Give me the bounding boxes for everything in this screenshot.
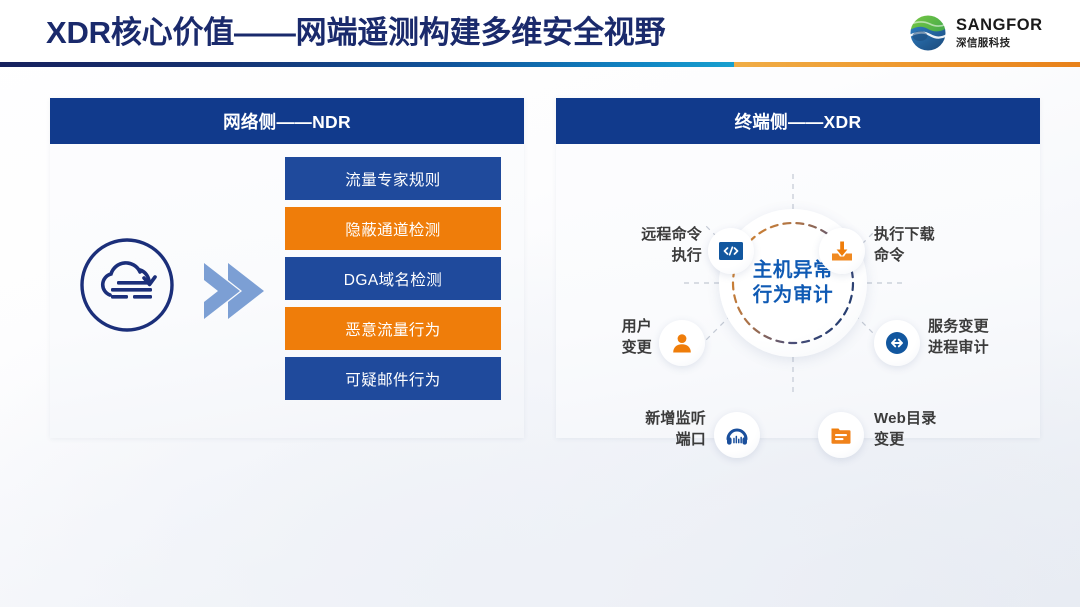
node-label-remote-command-execution: 远程命令 执行 [580,224,702,266]
node-label-line2: 命令 [874,245,1014,266]
node-label-line2: 进程审计 [928,337,1038,358]
ndr-item-label: 可疑邮件行为 [345,368,440,390]
logo-brand-name: SANGFOR [956,16,1056,35]
node-label-service-change-process-audit: 服务变更 进程审计 [928,316,1038,358]
node-label-line2: 变更 [874,429,1004,450]
exchange-arrows-icon[interactable] [874,320,920,366]
chevron-right-arrow-icon [200,262,272,320]
header-accent-rule [0,62,1080,67]
ndr-item-covert-channel-detection[interactable]: 隐蔽通道检测 [285,207,501,250]
slide-header: XDR核心价值——网端遥测构建多维安全视野 [0,0,1080,62]
panel-ndr-title: 网络侧——NDR [223,109,351,134]
panel-network-side-ndr: 网络侧——NDR [50,98,524,438]
user-person-icon[interactable] [659,320,705,366]
ndr-item-dga-domain-detection[interactable]: DGA域名检测 [285,257,501,300]
headphones-icon[interactable] [714,412,760,458]
node-label-line2: 变更 [566,337,652,358]
node-label-line1: 执行下载 [874,224,1014,245]
sangfor-globe-icon [908,13,948,53]
node-label-line2: 执行 [580,245,702,266]
ndr-item-traffic-expert-rules[interactable]: 流量专家规则 [285,157,501,200]
node-label-line1: Web目录 [874,408,1004,429]
folder-document-icon[interactable] [818,412,864,458]
panel-endpoint-side-xdr: 终端侧——XDR [556,98,1040,438]
node-label-line1: 远程命令 [580,224,702,245]
node-label-web-directory-change: Web目录 变更 [874,408,1004,450]
ndr-detection-list: 流量专家规则 隐蔽通道检测 DGA域名检测 恶意流量行为 可疑邮件行为 [285,157,501,400]
sangfor-logo-text: SANGFOR 深信服科技 [956,16,1056,50]
cloud-telemetry-icon [78,236,176,334]
node-label-new-listening-port: 新增监听 端口 [582,408,706,450]
accent-rule-orange-segment [734,62,1080,67]
ndr-item-label: 流量专家规则 [345,168,440,190]
ndr-item-label: DGA域名检测 [344,268,442,290]
xdr-hub-spoke-diagram: 主机异常 行为审计 远程命令 执行 [556,144,1040,438]
panel-ndr-header: 网络侧——NDR [50,98,524,144]
node-label-line1: 服务变更 [928,316,1038,337]
ndr-item-suspicious-mail-behavior[interactable]: 可疑邮件行为 [285,357,501,400]
slide-canvas: XDR核心价值——网端遥测构建多维安全视野 [0,0,1080,607]
panel-ndr-body: 流量专家规则 隐蔽通道检测 DGA域名检测 恶意流量行为 可疑邮件行为 [50,144,524,438]
hub-label-line2: 行为审计 [753,283,833,308]
panel-xdr-title: 终端侧——XDR [735,109,862,134]
node-label-line1: 新增监听 [582,408,706,429]
logo-brand-sub: 深信服科技 [956,36,1056,50]
accent-rule-blue-segment [0,62,734,67]
ndr-item-label: 隐蔽通道检测 [345,218,440,240]
download-tray-icon[interactable] [819,228,865,274]
ndr-item-malicious-traffic-behavior[interactable]: 恶意流量行为 [285,307,501,350]
node-label-line1: 用户 [566,316,652,337]
node-label-user-change: 用户 变更 [566,316,652,358]
page-title: XDR核心价值——网端遥测构建多维安全视野 [46,14,665,52]
ndr-item-label: 恶意流量行为 [345,318,440,340]
node-label-execute-download-command: 执行下载 命令 [874,224,1014,266]
panel-xdr-body: 主机异常 行为审计 远程命令 执行 [556,144,1040,438]
sangfor-logo: SANGFOR 深信服科技 [908,13,1058,53]
panel-xdr-header: 终端侧——XDR [556,98,1040,144]
node-label-line2: 端口 [582,429,706,450]
code-brackets-icon[interactable] [708,228,754,274]
